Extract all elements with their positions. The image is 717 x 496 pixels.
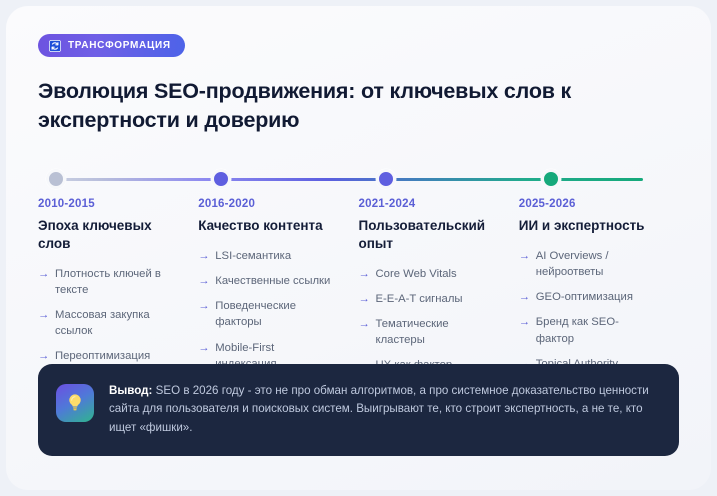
list-item: →Плотность ключей в тексте [38,266,174,298]
arrow-icon: → [198,340,209,356]
timeline-dot-2025-2026 [541,169,561,189]
list-item-label: Качественные ссылки [215,275,330,287]
arrow-icon: → [38,307,49,323]
arrow-icon: → [38,348,49,364]
arrow-icon: → [198,248,209,264]
conclusion-text: Вывод: SEO в 2026 году - это не про обма… [109,381,657,438]
column-title: Эпоха ключевых слов [38,217,174,253]
list-item-label: E-E-A-T сигналы [376,293,463,305]
arrow-icon: → [38,266,49,282]
conclusion-body: SEO в 2026 году - это не про обман алгор… [109,384,649,435]
list-item: →Тематические кластеры [359,316,495,348]
column-item-list: →LSI-семантика →Качественные ссылки →Пов… [198,248,334,372]
list-item-label: AI Overviews / нейроответы [536,250,609,278]
column-item-list: →AI Overviews / нейроответы →GEO-оптимиз… [519,248,655,372]
timeline-dot-2021-2024 [376,169,396,189]
list-item: →LSI-семантика [198,248,334,264]
column-title: Пользовательский опыт [359,217,495,253]
arrow-icon: → [198,273,209,289]
list-item-label: GEO-оптимизация [536,291,633,303]
arrow-icon: → [359,266,370,282]
conclusion-panel: Вывод: SEO в 2026 году - это не про обма… [38,364,679,456]
list-item: →E-E-A-T сигналы [359,291,495,307]
list-item-label: Core Web Vitals [376,268,457,280]
page-title: Эволюция SEO-продвижения: от ключевых сл… [38,77,638,134]
infographic-card: ТРАНСФОРМАЦИЯ Эволюция SEO-продвижения: … [6,6,711,490]
arrow-icon: → [359,291,370,307]
timeline [38,168,679,192]
list-item: →Core Web Vitals [359,266,495,282]
list-item-label: Поведенческие факторы [215,300,296,328]
column-era-label: 2021-2024 [359,198,495,210]
list-item: →GEO-оптимизация [519,289,655,305]
list-item-label: Бренд как SEO-фактор [536,316,619,344]
column-era-label: 2010-2015 [38,198,174,210]
timeline-dot-2010-2015 [46,169,66,189]
badge-label: ТРАНСФОРМАЦИЯ [68,40,171,51]
column-era-label: 2025-2026 [519,198,655,210]
arrow-icon: → [519,289,530,305]
column-title: Качество контента [198,217,334,235]
arrow-icon: → [519,248,530,264]
list-item: →AI Overviews / нейроответы [519,248,655,280]
conclusion-lead: Вывод: [109,384,152,397]
list-item: →Бренд как SEO-фактор [519,314,655,346]
arrow-icon: → [359,316,370,332]
list-item-label: Тематические кластеры [376,318,449,346]
list-item-label: Плотность ключей в тексте [55,268,161,296]
arrow-icon: → [519,314,530,330]
lightbulb-icon [56,384,94,422]
column-era-label: 2016-2020 [198,198,334,210]
list-item: →Массовая закупка ссылок [38,307,174,339]
timeline-dot-2016-2020 [211,169,231,189]
transformation-badge: ТРАНСФОРМАЦИЯ [38,34,185,57]
list-item: →Поведенческие факторы [198,298,334,330]
refresh-cycle-icon [49,40,61,52]
list-item: →Качественные ссылки [198,273,334,289]
arrow-icon: → [198,298,209,314]
list-item-label: Массовая закупка ссылок [55,309,150,337]
column-title: ИИ и экспертность [519,217,655,235]
list-item-label: LSI-семантика [215,250,291,262]
